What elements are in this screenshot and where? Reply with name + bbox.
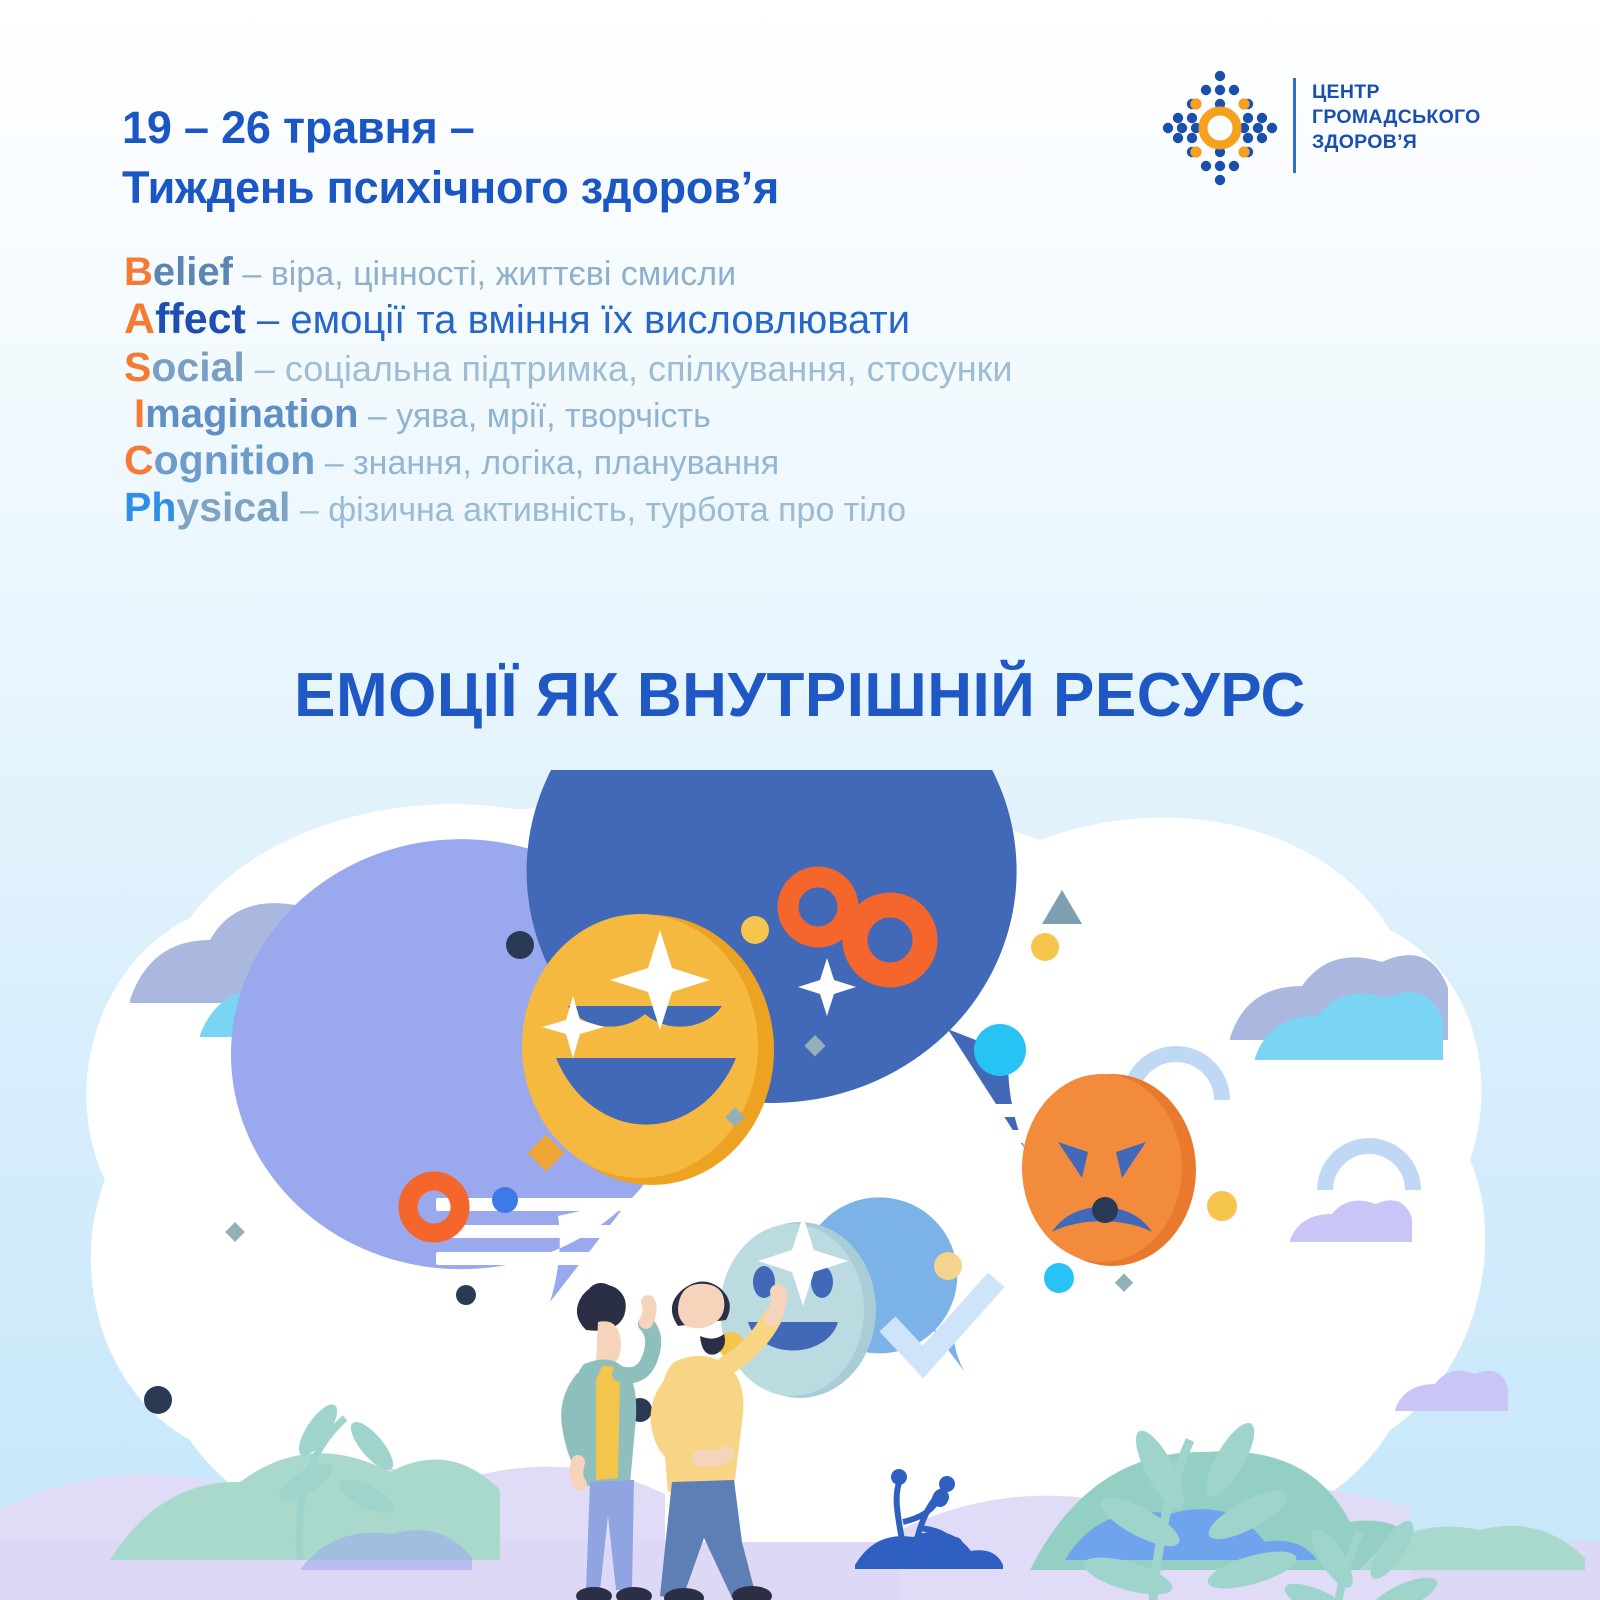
illustration <box>0 770 1600 1600</box>
basic-keyword: ysical <box>176 484 290 530</box>
list-item: Affect – емоції та вміння їх висловлюват… <box>124 298 1374 341</box>
organization-logo: ЦЕНТР ГРОМАДСЬКОГО ЗДОРОВ’Я <box>1160 62 1560 192</box>
basic-keyword: ognition <box>154 437 316 483</box>
basic-description: – емоції та вміння їх висловлювати <box>246 298 910 342</box>
basic-initial: C <box>124 437 154 483</box>
woman-bun <box>586 1283 616 1313</box>
basic-initial: Ph <box>124 484 176 530</box>
list-item: Social – соціальна підтримка, спілкуванн… <box>124 347 1374 388</box>
list-item: Physical – фізична активність, турбота п… <box>124 487 1374 528</box>
angry-emoji <box>1022 1074 1196 1266</box>
list-item: Imagination – уява, мрії, творчість <box>124 394 1374 434</box>
list-item: Cognition – знання, логіка, планування <box>124 440 1374 481</box>
basic-keyword: ocial <box>151 344 244 390</box>
basic-keyword: ffect <box>155 295 246 343</box>
poster-canvas: 19 – 26 травня – Тиждень психічного здор… <box>0 0 1600 1600</box>
basic-ph-model-list: Belief – віра, цінності, життєві смисли … <box>124 252 1374 534</box>
basic-description: – віра, цінності, життєві смисли <box>233 255 736 293</box>
cyan-dot <box>974 1024 1026 1076</box>
basic-initial: B <box>124 250 153 294</box>
basic-keyword: magination <box>145 392 358 436</box>
basic-initial: A <box>124 295 155 343</box>
headline: ЕМОЦІЇ ЯК ВНУТРІШНІЙ РЕСУРС <box>0 660 1600 731</box>
logo-dot-diamond-icon <box>1160 68 1280 188</box>
basic-description: – уява, мрії, творчість <box>358 397 710 435</box>
page-title: 19 – 26 травня – Тиждень психічного здор… <box>122 98 779 218</box>
basic-initial: I <box>134 392 145 436</box>
basic-description: – фізична активність, турбота про тіло <box>290 491 906 529</box>
logo-text: ЦЕНТР ГРОМАДСЬКОГО ЗДОРОВ’Я <box>1312 80 1481 155</box>
man-hand-up <box>772 1292 779 1318</box>
basic-description: – знання, логіка, планування <box>315 444 779 482</box>
basic-initial: S <box>124 344 151 390</box>
basic-description: – соціальна підтримка, спілкування, стос… <box>245 348 1013 389</box>
woman-hand <box>646 1302 650 1322</box>
logo-divider <box>1293 78 1296 173</box>
woman-shirt <box>596 1366 620 1480</box>
basic-keyword: elief <box>153 250 233 294</box>
list-item: Belief – віра, цінності, життєві смисли <box>124 252 1374 292</box>
yellow-dot <box>934 1252 962 1280</box>
